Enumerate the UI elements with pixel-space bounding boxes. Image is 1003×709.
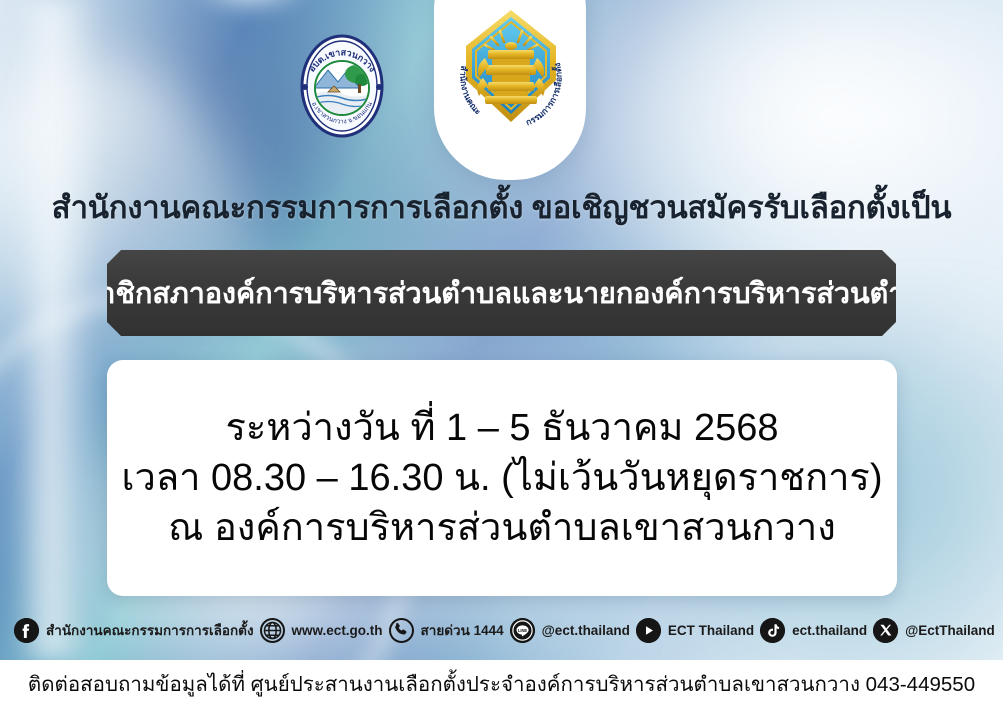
- line-icon: LINE: [510, 618, 535, 643]
- poster-root: สำนักงานคณะ กรรมการการเลือกตั้ง อบต.เขาส…: [0, 0, 1003, 709]
- khao-suan-kwang-sao-seal: อบต.เขาสวนกวาง อ.เขาสวนกวาง จ.ขอนแก่น: [288, 32, 396, 140]
- globe-icon: [260, 618, 285, 643]
- card-line-date: ระหว่างวัน ที่ 1 – 5 ธันวาคม 2568: [225, 403, 778, 453]
- ect-thailand-emblem: สำนักงานคณะ กรรมการการเลือกตั้ง: [452, 6, 570, 138]
- social-label-x: @EctThailand: [905, 623, 995, 638]
- bg-vertical-streak: [12, 0, 98, 660]
- x-twitter-icon: [873, 618, 898, 643]
- youtube-icon: [636, 618, 661, 643]
- social-item-youtube[interactable]: ECT Thailand: [636, 618, 754, 643]
- phone-icon: [389, 618, 414, 643]
- black-banner-text: สมาชิกสภาองค์การบริหารส่วนตำบลและนายกองค…: [63, 270, 940, 316]
- social-item-line[interactable]: LINE @ect.thailand: [510, 618, 630, 643]
- tiktok-icon: [760, 618, 785, 643]
- card-line-place: ณ องค์การบริหารส่วนตำบลเขาสวนกวาง: [168, 503, 836, 553]
- social-item-x[interactable]: @EctThailand: [873, 618, 995, 643]
- social-label-youtube: ECT Thailand: [668, 623, 754, 638]
- contact-text: ติดต่อสอบถามข้อมูลได้ที่ ศูนย์ประสานงานเ…: [28, 668, 975, 701]
- black-banner: สมาชิกสภาองค์การบริหารส่วนตำบลและนายกองค…: [107, 250, 896, 336]
- social-item-facebook[interactable]: สำนักงานคณะกรรมการการเลือกตั้ง: [14, 618, 254, 643]
- card-line-time: เวลา 08.30 – 16.30 น. (ไม่เว้นวันหยุดราช…: [122, 453, 883, 503]
- social-label-line: @ect.thailand: [542, 623, 630, 638]
- social-label-hotline: สายด่วน 1444: [421, 619, 504, 641]
- social-item-hotline[interactable]: สายด่วน 1444: [389, 618, 504, 643]
- facebook-icon: [14, 618, 39, 643]
- social-label-website: www.ect.go.th: [292, 623, 383, 638]
- social-media-bar: สำนักงานคณะกรรมการการเลือกตั้ง www.ect.g…: [0, 605, 1003, 655]
- social-label-facebook: สำนักงานคณะกรรมการการเลือกตั้ง: [46, 619, 254, 641]
- svg-text:LINE: LINE: [517, 627, 527, 632]
- headline-text: สำนักงานคณะกรรมการการเลือกตั้ง ขอเชิญชวน…: [0, 182, 1003, 232]
- social-item-tiktok[interactable]: ect.thailand: [760, 618, 867, 643]
- contact-strip: ติดต่อสอบถามข้อมูลได้ที่ ศูนย์ประสานงานเ…: [0, 660, 1003, 709]
- social-label-tiktok: ect.thailand: [792, 623, 867, 638]
- social-item-website[interactable]: www.ect.go.th: [260, 618, 383, 643]
- details-card: ระหว่างวัน ที่ 1 – 5 ธันวาคม 2568 เวลา 0…: [107, 360, 897, 596]
